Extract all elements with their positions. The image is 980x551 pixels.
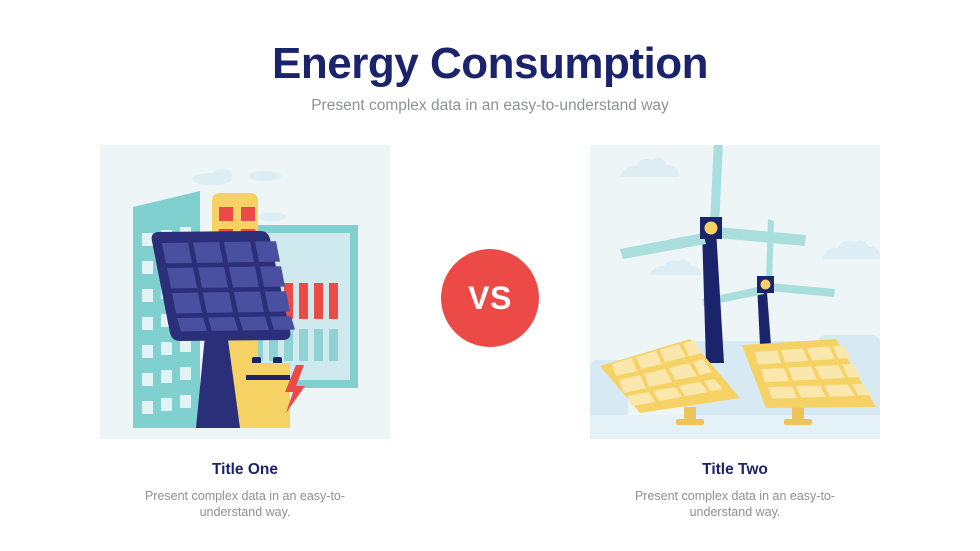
header: Energy Consumption Present complex data … [0, 38, 980, 116]
illustration-right [590, 145, 880, 439]
battery-icon [246, 357, 290, 428]
illustration-left [100, 145, 390, 439]
comparison-column-right: Title Two Present complex data in an eas… [590, 145, 880, 520]
comparison-column-left: Title One Present complex data in an eas… [100, 145, 390, 520]
wind-turbine-solar-illustration-svg [590, 145, 880, 439]
column-description-left: Present complex data in an easy-to-under… [130, 488, 360, 520]
ground-strip [590, 415, 880, 439]
page-title: Energy Consumption [0, 38, 980, 90]
column-description-right: Present complex data in an easy-to-under… [620, 488, 850, 520]
column-title-right: Title Two [590, 461, 880, 479]
vs-label: VS [468, 280, 512, 317]
solar-panel-dark [152, 231, 295, 341]
column-title-left: Title One [100, 461, 390, 479]
page-subtitle: Present complex data in an easy-to-under… [0, 96, 980, 116]
slide-canvas: Energy Consumption Present complex data … [0, 0, 980, 551]
city-solar-panel-illustration-svg [100, 145, 390, 439]
vs-badge: VS [441, 249, 539, 347]
